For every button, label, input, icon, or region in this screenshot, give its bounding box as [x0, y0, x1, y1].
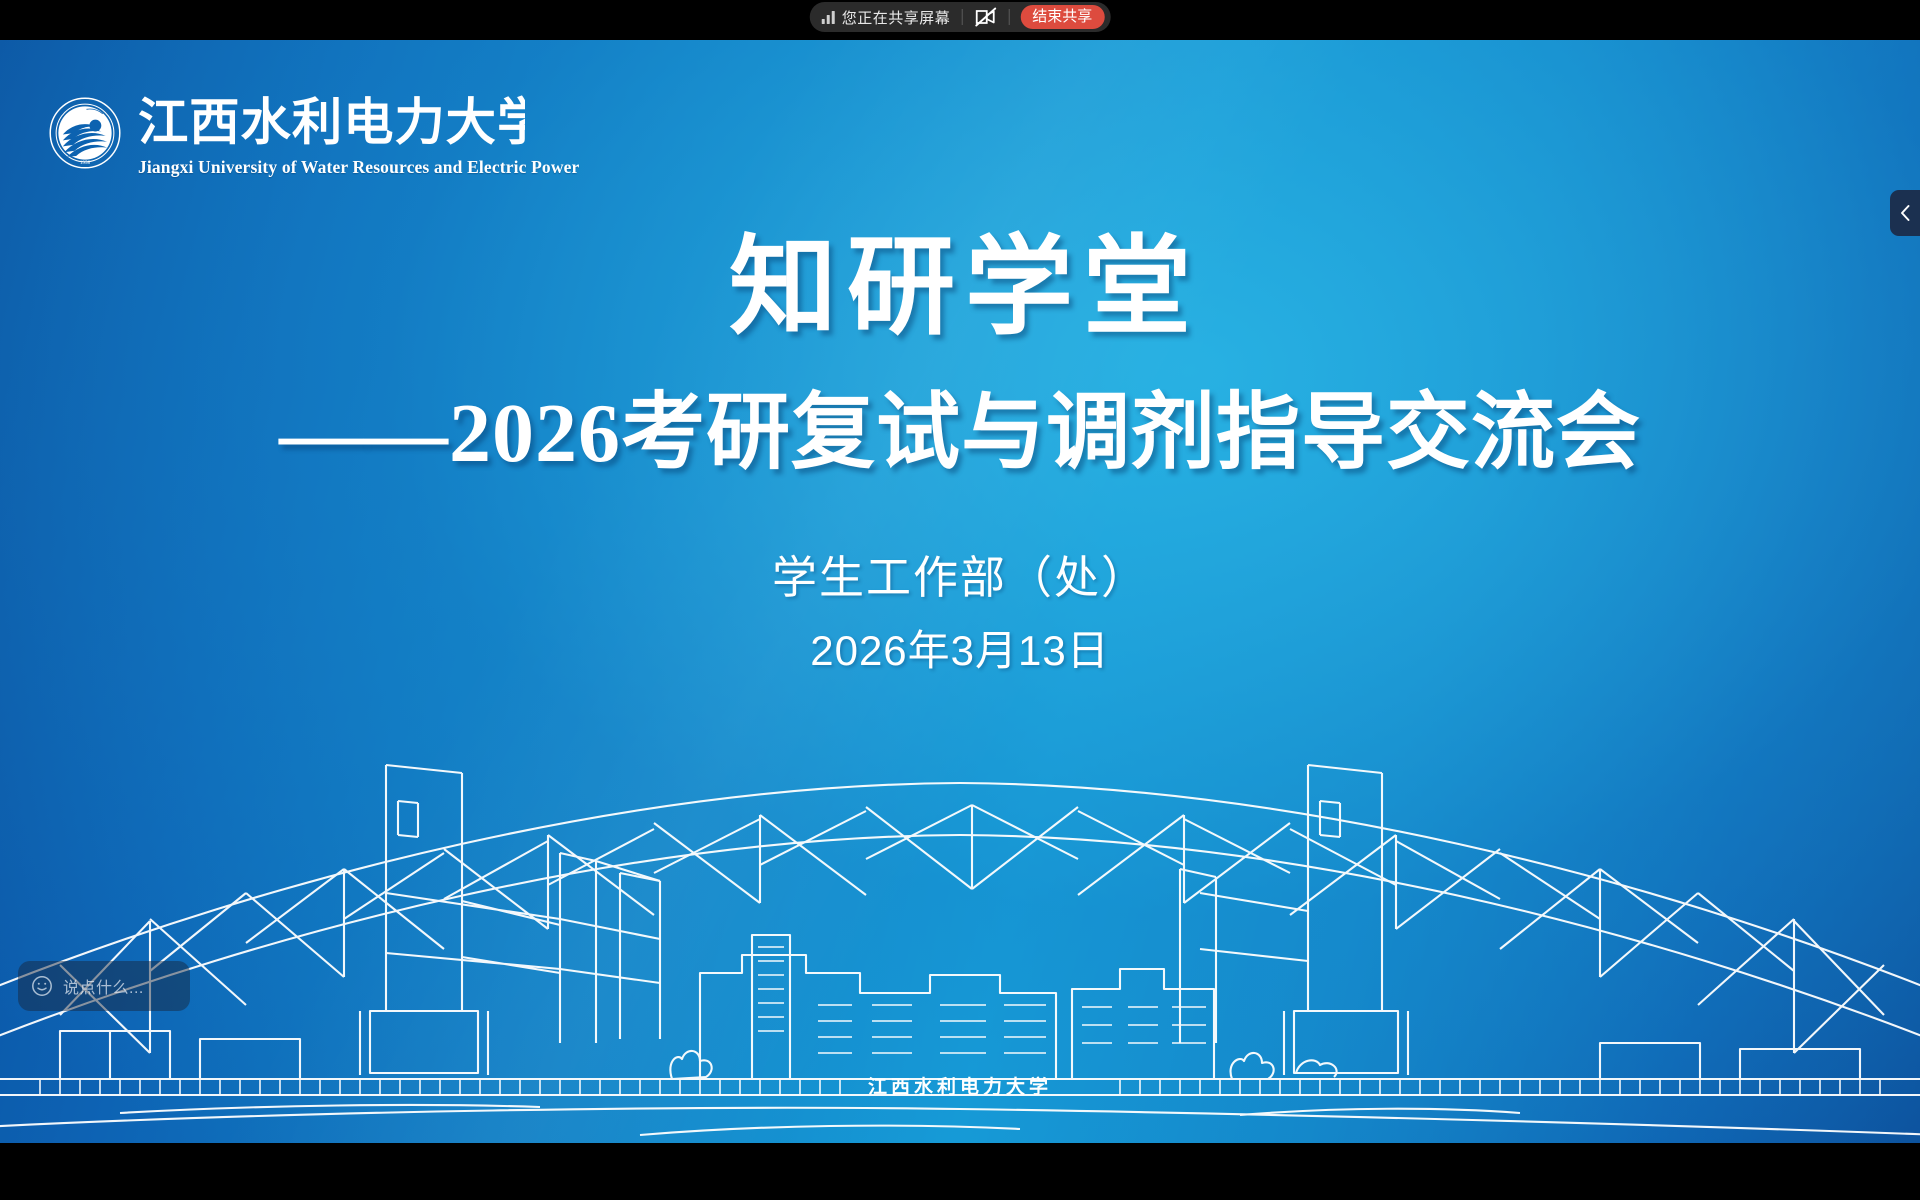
panel-collapse-tab[interactable]	[1890, 190, 1920, 236]
university-logo-lockup: 1958 江西水利电力大学 Jiangxi University of Wate…	[48, 92, 579, 178]
slide-subtitle: ——2026考研复试与调剂指导交流会	[0, 392, 1920, 476]
slide-date: 2026年3月13日	[0, 630, 1920, 672]
shared-screen-slide: 江西水利电力大学 1958 江西水利电力大学	[0, 40, 1920, 1143]
signal-bars-icon	[822, 11, 835, 24]
video-off-icon[interactable]	[973, 7, 997, 27]
university-name-cn-wordmark: 江西水利电力大学	[138, 92, 525, 152]
university-seal-icon: 1958	[48, 96, 122, 170]
letterbox-bottom	[0, 1143, 1920, 1200]
railing-text: 江西水利电力大学	[868, 1075, 1052, 1098]
share-status-text: 您正在共享屏幕	[842, 7, 951, 28]
bridge-railing-nameplate: 江西水利电力大学	[868, 1075, 1052, 1098]
slide-main-title: 知研学堂	[0, 235, 1920, 343]
end-share-button[interactable]: 结束共享	[1020, 5, 1104, 29]
campus-bridge-skyline-artwork: 江西水利电力大学	[0, 743, 1920, 1143]
smiley-face-icon	[30, 974, 54, 998]
toolbar-divider-2	[1008, 9, 1009, 25]
chat-message-input[interactable]: 说点什么...	[18, 961, 190, 1011]
chevron-left-icon	[1899, 204, 1912, 222]
toolbar-divider-1	[961, 9, 962, 25]
seal-year: 1958	[80, 160, 91, 166]
university-name-en: Jiangxi University of Water Resources an…	[138, 157, 579, 178]
chat-input-placeholder: 说点什么...	[63, 974, 144, 998]
university-name-cn: 江西水利电力大学	[138, 92, 525, 151]
slide-organizer: 学生工作部（处）	[0, 555, 1920, 600]
screen-share-toolbar: 您正在共享屏幕 结束共享	[810, 2, 1111, 32]
